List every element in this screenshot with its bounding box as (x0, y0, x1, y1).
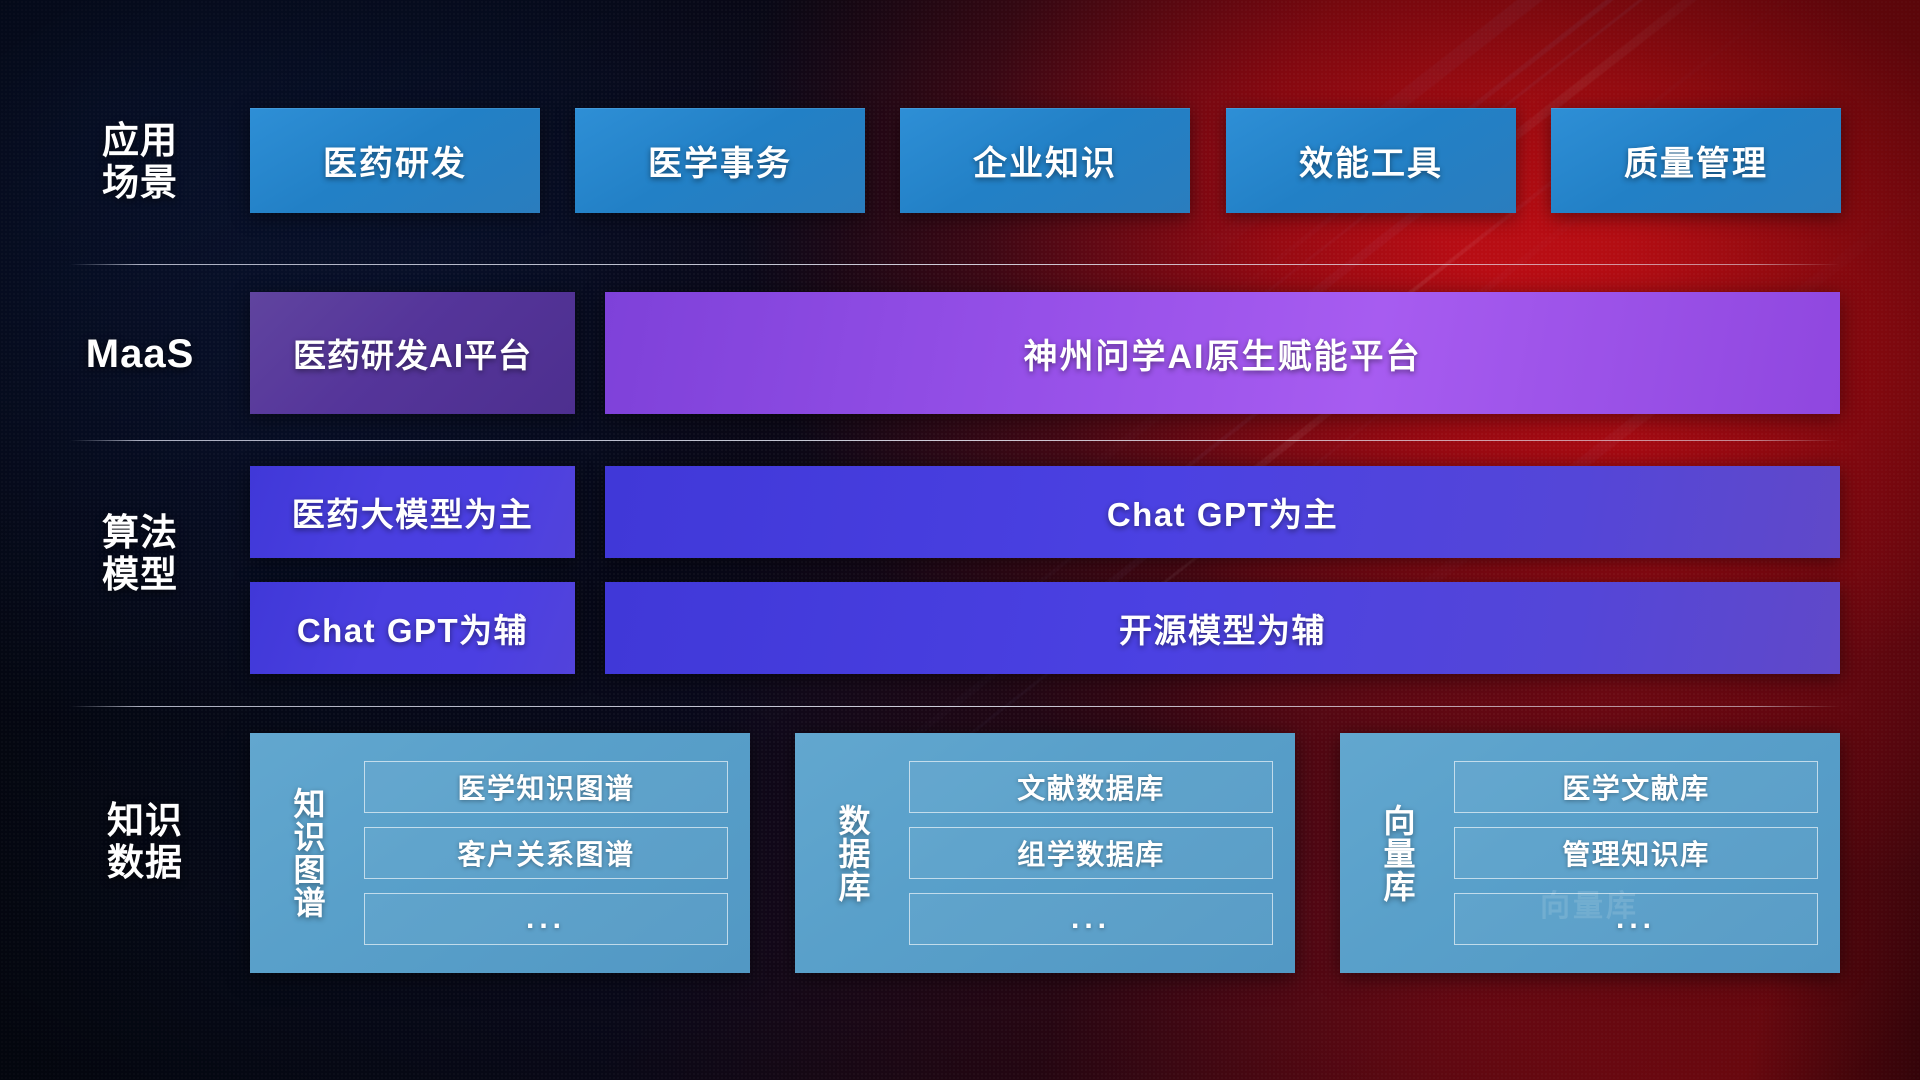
knowledge-item-customer-kg-label: 客户关系图谱 (457, 833, 634, 873)
knowledge-item-medical-literature[interactable]: 医学文献库 (1454, 761, 1818, 813)
divider-application-maas (70, 264, 1840, 265)
divider-algorithm-knowledge (70, 706, 1840, 707)
algorithm-box-pharma-llm-primary[interactable]: 医药大模型为主 (250, 466, 575, 558)
knowledge-item-customer-kg[interactable]: 客户关系图谱 (364, 827, 728, 879)
knowledge-panel-knowledge-graph-label: 知识图谱 (264, 787, 350, 919)
maas-box-pharma-platform-label: 医药研发AI平台 (293, 329, 532, 377)
knowledge-item-medical-kg-label: 医学知识图谱 (457, 767, 634, 807)
row-label-knowledge-line2: 数据 (70, 842, 220, 884)
knowledge-item-vector-more-label: ... (1616, 902, 1656, 936)
application-box-1[interactable]: 医药研发 (250, 108, 540, 213)
maas-box-shenzhou-platform-label: 神州问学AI原生赋能平台 (1024, 329, 1422, 378)
algorithm-box-opensource-secondary[interactable]: 开源模型为辅 (605, 582, 1840, 674)
knowledge-item-medical-kg[interactable]: 医学知识图谱 (364, 761, 728, 813)
row-label-knowledge-line1: 知识 (70, 800, 220, 842)
knowledge-panel-knowledge-graph-items: 医学知识图谱 客户关系图谱 ... (350, 743, 750, 963)
knowledge-item-db-more-label: ... (1071, 902, 1111, 936)
knowledge-item-db-more[interactable]: ... (909, 893, 1273, 945)
algorithm-box-pharma-llm-primary-label: 医药大模型为主 (292, 488, 534, 536)
knowledge-item-kg-more[interactable]: ... (364, 893, 728, 945)
knowledge-item-literature-db[interactable]: 文献数据库 (909, 761, 1273, 813)
row-label-application-line1: 应用 (70, 120, 210, 162)
maas-box-pharma-platform[interactable]: 医药研发AI平台 (250, 292, 575, 414)
knowledge-item-omics-db-label: 组学数据库 (1017, 833, 1165, 873)
knowledge-panel-vector-store-label: 向量库 (1354, 804, 1440, 903)
algorithm-box-opensource-secondary-label: 开源模型为辅 (1119, 604, 1326, 652)
maas-box-shenzhou-platform[interactable]: 神州问学AI原生赋能平台 (605, 292, 1840, 414)
diagram-canvas: 应用 场景 医药研发 医学事务 企业知识 效能工具 质量管理 MaaS 医药研发… (0, 0, 1920, 1080)
knowledge-item-management-kb-label: 管理知识库 (1562, 833, 1710, 873)
knowledge-panel-database-label: 数据库 (809, 804, 895, 903)
row-label-maas: MaaS (70, 332, 210, 378)
knowledge-item-kg-more-label: ... (526, 902, 566, 936)
knowledge-item-management-kb[interactable]: 管理知识库 (1454, 827, 1818, 879)
knowledge-item-literature-db-label: 文献数据库 (1017, 767, 1165, 807)
knowledge-panel-database-items: 文献数据库 组学数据库 ... (895, 743, 1295, 963)
application-box-2-label: 医学事务 (648, 136, 792, 185)
application-box-5-label: 质量管理 (1624, 136, 1768, 185)
knowledge-panel-vector-store[interactable]: 向量库 医学文献库 管理知识库 ... 向量库 (1340, 733, 1840, 973)
application-box-5[interactable]: 质量管理 (1551, 108, 1841, 213)
application-box-4[interactable]: 效能工具 (1226, 108, 1516, 213)
algorithm-box-chatgpt-secondary[interactable]: Chat GPT为辅 (250, 582, 575, 674)
algorithm-box-chatgpt-primary-label: Chat GPT为主 (1107, 488, 1338, 536)
row-label-algorithm: 算法 模型 (70, 512, 210, 596)
application-box-3[interactable]: 企业知识 (900, 108, 1190, 213)
algorithm-box-chatgpt-secondary-label: Chat GPT为辅 (297, 604, 528, 652)
knowledge-panel-database[interactable]: 数据库 文献数据库 组学数据库 ... (795, 733, 1295, 973)
application-box-4-label: 效能工具 (1299, 136, 1443, 185)
row-label-algorithm-line1: 算法 (70, 512, 210, 554)
knowledge-panel-vector-store-items: 医学文献库 管理知识库 ... (1440, 743, 1840, 963)
application-box-3-label: 企业知识 (973, 136, 1117, 185)
algorithm-box-chatgpt-primary[interactable]: Chat GPT为主 (605, 466, 1840, 558)
application-box-2[interactable]: 医学事务 (575, 108, 865, 213)
row-label-algorithm-line2: 模型 (70, 554, 210, 596)
row-label-application-line2: 场景 (70, 162, 210, 204)
knowledge-item-omics-db[interactable]: 组学数据库 (909, 827, 1273, 879)
divider-maas-algorithm (70, 440, 1840, 441)
row-label-application: 应用 场景 (70, 120, 210, 204)
knowledge-item-vector-more[interactable]: ... (1454, 893, 1818, 945)
row-label-maas-text: MaaS (70, 332, 210, 378)
row-label-knowledge: 知识 数据 (70, 800, 220, 884)
application-box-1-label: 医药研发 (323, 136, 467, 185)
knowledge-panel-knowledge-graph[interactable]: 知识图谱 医学知识图谱 客户关系图谱 ... (250, 733, 750, 973)
knowledge-item-medical-literature-label: 医学文献库 (1562, 767, 1710, 807)
